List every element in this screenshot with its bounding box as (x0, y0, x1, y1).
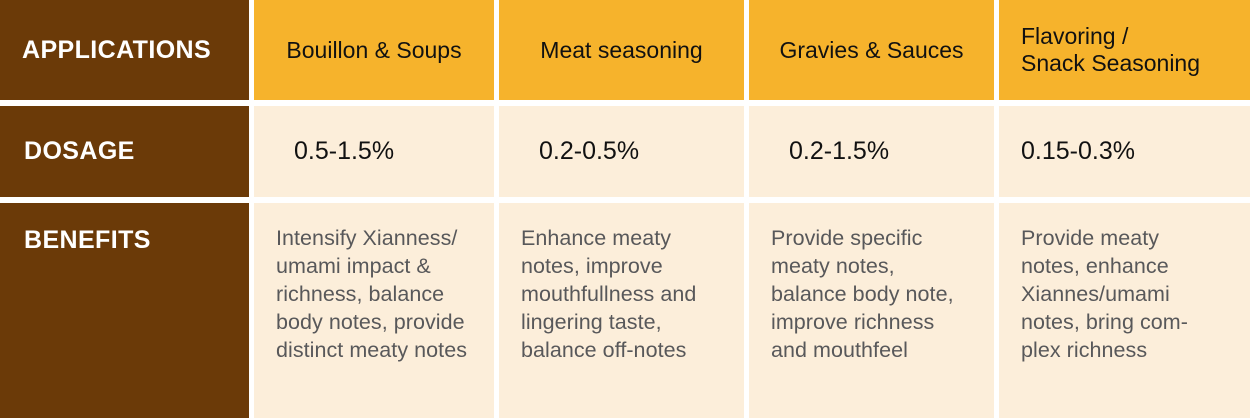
column-header-3: Gravies & Sauces (749, 0, 994, 100)
applications-dosage-benefits-table: APPLICATIONS Bouillon & Soups Meat seaso… (0, 0, 1250, 418)
row-label-applications: APPLICATIONS (0, 0, 249, 100)
column-header-4: Flavoring / Snack Seasoning (999, 0, 1250, 100)
benefits-value-3: Provide specific meaty notes, balance bo… (749, 203, 994, 418)
column-header-3-text: Gravies & Sauces (779, 37, 963, 64)
benefits-value-2-text: Enhance meaty notes, improve mouthfullne… (521, 225, 730, 365)
benefits-value-2: Enhance meaty notes, improve mouthfullne… (499, 203, 744, 418)
row-label-dosage-text: DOSAGE (24, 138, 135, 164)
dosage-value-2-text: 0.2-0.5% (539, 138, 639, 166)
dosage-value-1-text: 0.5-1.5% (294, 138, 394, 166)
benefits-value-1-text: Intensify Xianness/ umami impact & richn… (276, 225, 480, 365)
row-label-benefits-text: BENEFITS (24, 227, 151, 253)
benefits-value-4: Provide meaty notes, enhance Xiannes/uma… (999, 203, 1250, 418)
row-label-benefits: BENEFITS (0, 203, 249, 418)
benefits-value-3-text: Provide specific meaty notes, balance bo… (771, 225, 980, 365)
column-header-2: Meat seasoning (499, 0, 744, 100)
benefits-value-1: Intensify Xianness/ umami impact & richn… (254, 203, 494, 418)
row-label-dosage: DOSAGE (0, 106, 249, 197)
benefits-value-4-text: Provide meaty notes, enhance Xiannes/uma… (1021, 225, 1236, 365)
column-header-1: Bouillon & Soups (254, 0, 494, 100)
dosage-value-3: 0.2-1.5% (749, 106, 994, 197)
column-header-1-text: Bouillon & Soups (286, 37, 461, 64)
dosage-value-1: 0.5-1.5% (254, 106, 494, 197)
column-header-4-text: Flavoring / Snack Seasoning (1021, 23, 1200, 76)
dosage-value-4: 0.15-0.3% (999, 106, 1250, 197)
dosage-value-3-text: 0.2-1.5% (789, 138, 889, 166)
row-label-applications-text: APPLICATIONS (22, 37, 211, 63)
column-header-2-text: Meat seasoning (540, 37, 702, 64)
dosage-value-2: 0.2-0.5% (499, 106, 744, 197)
dosage-value-4-text: 0.15-0.3% (1021, 138, 1135, 166)
